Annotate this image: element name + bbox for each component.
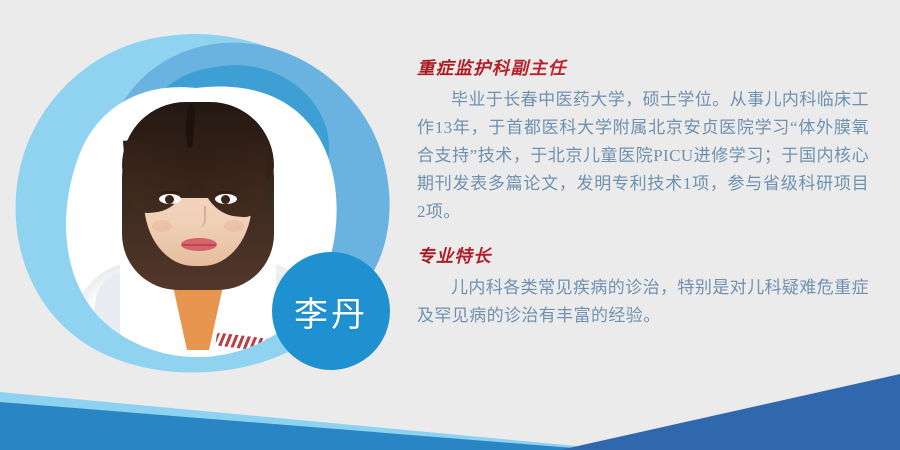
cheek-right xyxy=(224,220,244,232)
doctor-name: 李丹 xyxy=(294,287,368,336)
name-badge: 李丹 xyxy=(272,252,390,370)
section-heading-specialty: 专业特长 xyxy=(417,246,869,268)
profile-card: 李丹 重症监护科副主任 毕业于长春中医药大学，硕士学位。从事儿内科临床工作13年… xyxy=(0,0,900,450)
section-heading-title: 重症监护科副主任 xyxy=(417,58,869,80)
section-body-biography: 毕业于长春中医药大学，硕士学位。从事儿内科临床工作13年，于首都医科大学附属北京… xyxy=(417,86,869,226)
bottom-banner xyxy=(0,370,900,450)
section-body-specialty: 儿内科各类常见疾病的诊治，特别是对儿科疑难危重症及罕见病的诊治有丰富的经验。 xyxy=(417,274,869,330)
eyelid-left xyxy=(158,191,182,199)
lip-line xyxy=(182,244,216,246)
nose xyxy=(192,206,206,228)
eyelid-right xyxy=(214,191,238,199)
portrait-artwork: 李丹 xyxy=(0,0,400,400)
bottom-right-diagonal-band xyxy=(560,374,900,450)
cheek-left xyxy=(152,220,172,232)
profile-text-column: 重症监护科副主任 毕业于长春中医药大学，硕士学位。从事儿内科临床工作13年，于首… xyxy=(417,58,869,330)
